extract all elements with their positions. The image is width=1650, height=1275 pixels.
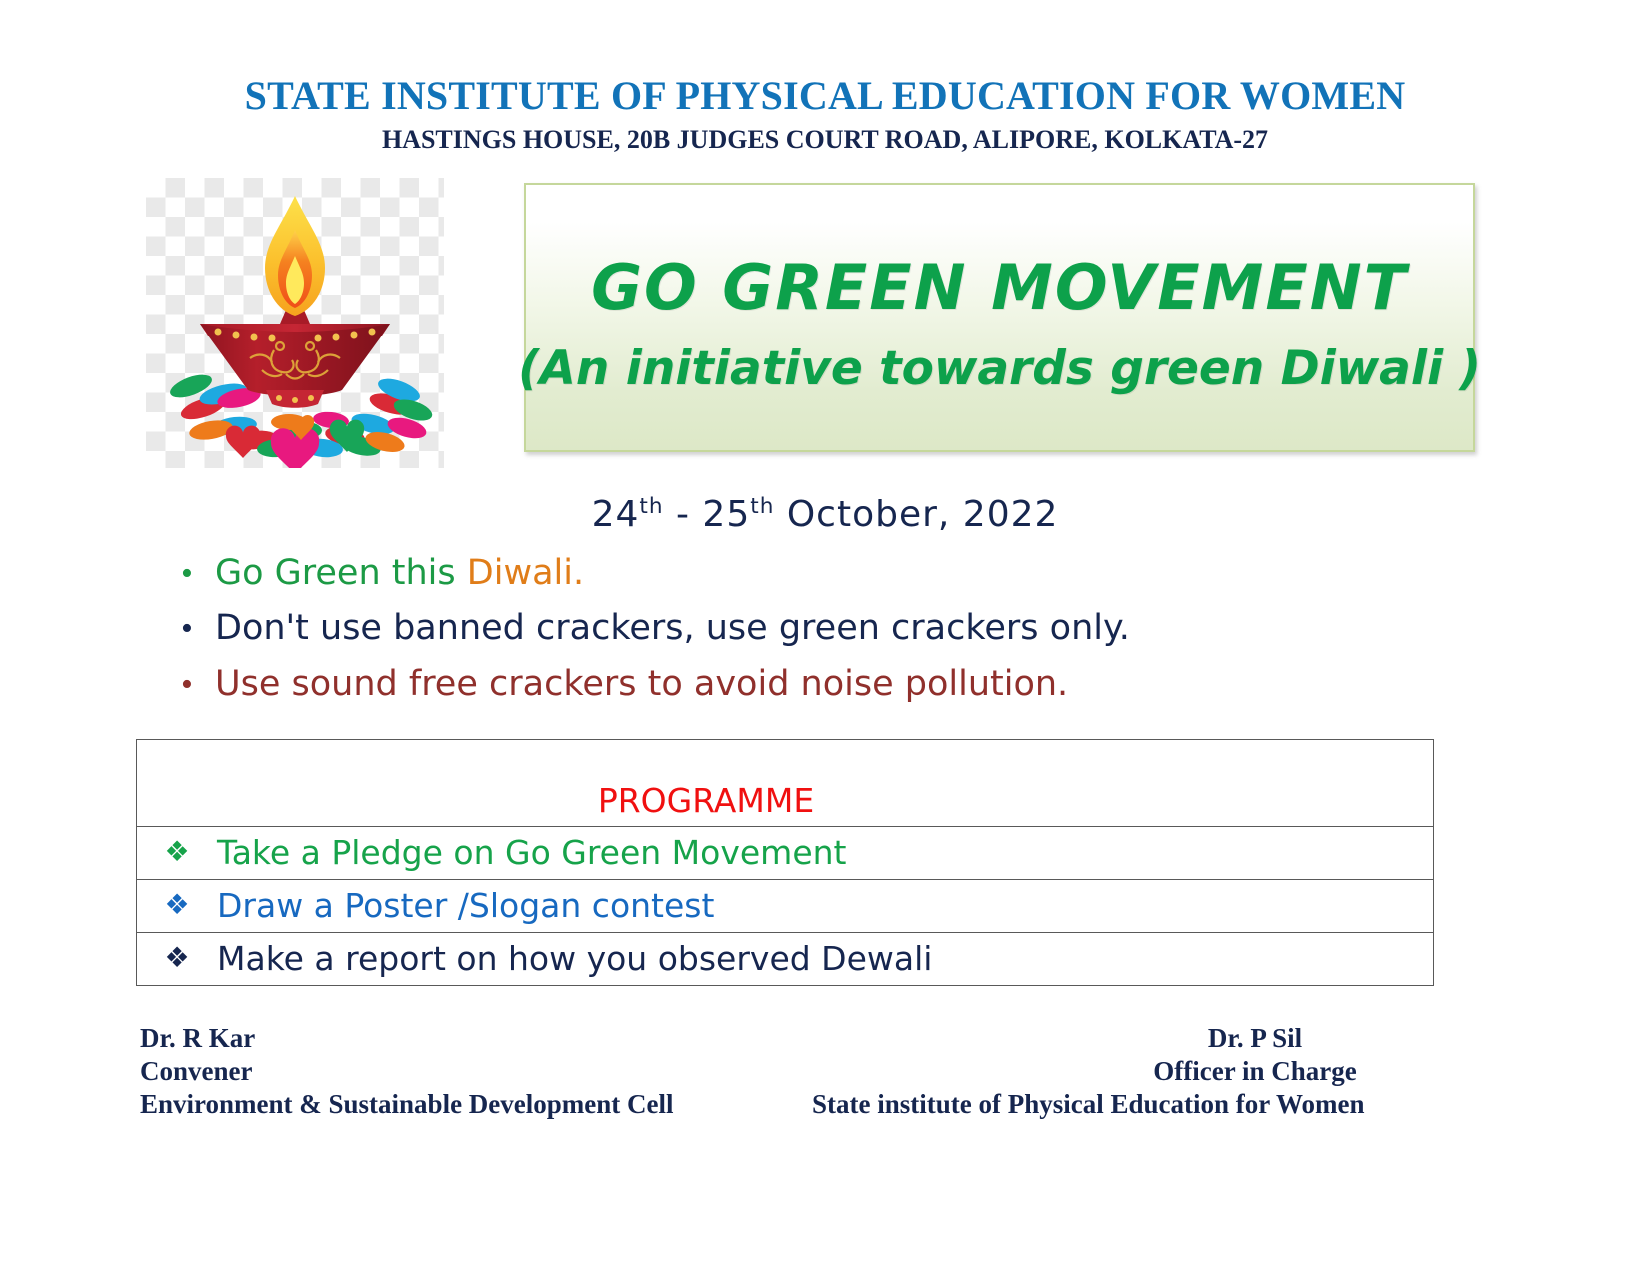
- flame-icon: [265, 196, 325, 316]
- programme-item: ❖ Take a Pledge on Go Green Movement: [137, 835, 1433, 871]
- signature-units-row: Environment & Sustainable Development Ce…: [140, 1088, 1530, 1121]
- document-header: STATE INSTITUTE OF PHYSICAL EDUCATION FO…: [0, 74, 1650, 155]
- bullet-text: Go Green this Diwali.: [215, 553, 584, 594]
- programme-item: ❖ Make a report on how you observed Dewa…: [137, 941, 1433, 977]
- date-day-start: 24: [592, 494, 640, 535]
- convener-name: Dr. R Kar: [140, 1022, 980, 1055]
- convener-unit: Environment & Sustainable Development Ce…: [140, 1088, 812, 1121]
- diwali-diya-image: [146, 178, 444, 468]
- bullet-text: Use sound free crackers to avoid noise p…: [215, 664, 1068, 705]
- date-month-year: October, 2022: [774, 494, 1058, 535]
- list-item: • Use sound free crackers to avoid noise…: [175, 664, 1425, 705]
- officer-unit: State institute of Physical Education fo…: [812, 1088, 1530, 1121]
- message-bullet-list: • Go Green this Diwali. • Don't use bann…: [175, 553, 1425, 719]
- event-date: 24th - 25th October, 2022: [0, 494, 1650, 535]
- date-ordinal-2: th: [750, 494, 774, 519]
- signature-names-row: Dr. R Kar Dr. P Sil: [140, 1022, 1530, 1055]
- date-ordinal-1: th: [639, 494, 663, 519]
- signature-block: Dr. R Kar Dr. P Sil Convener Officer in …: [140, 1022, 1530, 1121]
- signature-designations-row: Convener Officer in Charge: [140, 1055, 1530, 1088]
- organization-address: HASTINGS HOUSE, 20B JUDGES COURT ROAD, A…: [0, 125, 1650, 155]
- programme-item-label: Make a report on how you observed Dewali: [217, 941, 932, 977]
- officer-designation: Officer in Charge: [980, 1055, 1530, 1088]
- bullet-dot-icon: •: [175, 612, 215, 646]
- table-header-row: PROGRAMME: [137, 740, 1434, 827]
- programme-heading: PROGRAMME: [137, 781, 1433, 820]
- list-item: • Don't use banned crackers, use green c…: [175, 608, 1425, 649]
- diamond-bullet-icon: ❖: [137, 945, 217, 973]
- programme-item-label: Take a Pledge on Go Green Movement: [217, 835, 846, 871]
- diamond-bullet-icon: ❖: [137, 892, 217, 920]
- bullet-dot-icon: •: [175, 668, 215, 702]
- programme-item-label: Draw a Poster /Slogan contest: [217, 888, 714, 924]
- officer-name: Dr. P Sil: [980, 1022, 1530, 1055]
- diamond-bullet-icon: ❖: [137, 839, 217, 867]
- bullet-text-accent: Diwali.: [467, 553, 584, 593]
- table-row: ❖ Draw a Poster /Slogan contest: [137, 880, 1434, 933]
- bullet-text: Don't use banned crackers, use green cra…: [215, 608, 1130, 649]
- programme-item: ❖ Draw a Poster /Slogan contest: [137, 888, 1433, 924]
- programme-heading-cell: PROGRAMME: [137, 740, 1434, 827]
- banner-subtitle: (An initiative towards green Diwali ): [518, 345, 1481, 392]
- diya-lamp-icon: [146, 178, 444, 468]
- banner-title: GO GREEN MOVEMENT: [591, 257, 1408, 319]
- programme-table: PROGRAMME ❖ Take a Pledge on Go Green Mo…: [136, 739, 1434, 986]
- event-banner: GO GREEN MOVEMENT (An initiative towards…: [524, 183, 1475, 452]
- table-row: ❖ Take a Pledge on Go Green Movement: [137, 827, 1434, 880]
- date-separator: - 25: [664, 494, 751, 535]
- table-row: ❖ Make a report on how you observed Dewa…: [137, 933, 1434, 986]
- organization-title: STATE INSTITUTE OF PHYSICAL EDUCATION FO…: [0, 74, 1650, 119]
- bullet-text-primary: Go Green this: [215, 553, 467, 593]
- bullet-dot-icon: •: [175, 557, 215, 591]
- convener-designation: Convener: [140, 1055, 980, 1088]
- list-item: • Go Green this Diwali.: [175, 553, 1425, 594]
